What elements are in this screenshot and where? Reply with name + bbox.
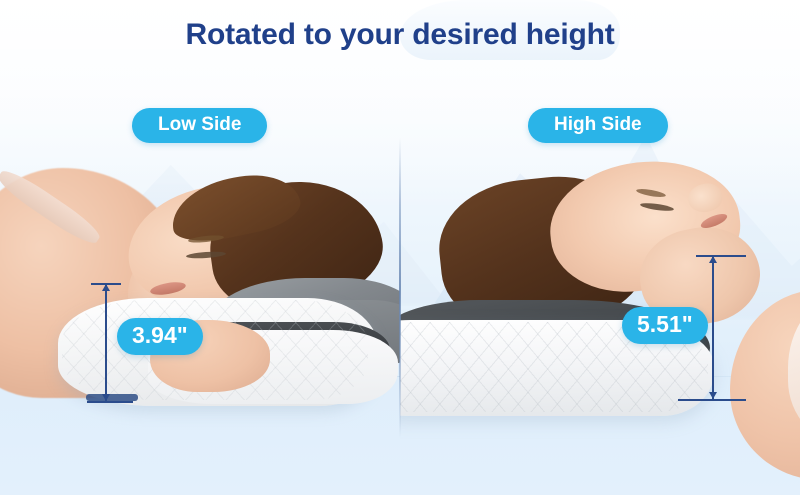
dimension-arrow-up-high: [709, 256, 717, 263]
dimension-cap-bottom-high: [678, 399, 746, 401]
panel-high-side: [400, 0, 800, 495]
dimension-cap-top-high: [696, 255, 746, 257]
badge-low-side: Low Side: [132, 108, 267, 143]
dimension-arrow-down-low: [102, 394, 110, 401]
measurement-badge-low-side: 3.94": [117, 318, 203, 355]
badge-high-side: High Side: [528, 108, 668, 143]
dimension-arrow-down-high: [709, 392, 717, 399]
dimension-shaft-low: [105, 283, 107, 403]
panel-low-side: [0, 0, 400, 495]
measurement-badge-high-side: 5.51": [622, 307, 708, 344]
pillow-brand-tag-left: [86, 394, 138, 401]
dimension-arrow-up-low: [102, 284, 110, 291]
product-comparison-banner: Rotated to your desired height Low Side …: [0, 0, 800, 495]
page-title: Rotated to your desired height: [0, 18, 800, 52]
dimension-cap-bottom-low: [87, 401, 133, 403]
dimension-shaft-high: [712, 255, 714, 401]
panel-divider: [399, 138, 401, 438]
